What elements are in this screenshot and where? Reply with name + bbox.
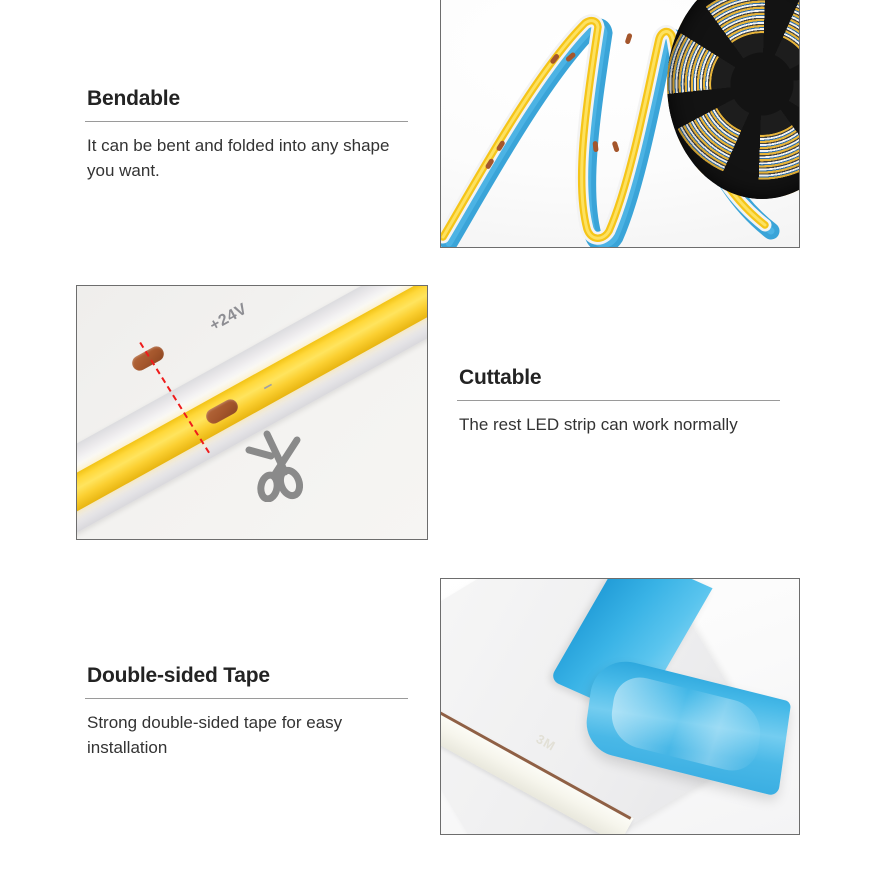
scissors-icon <box>245 426 319 502</box>
feature-description-tape: Strong double-sided tape for easy instal… <box>87 710 417 760</box>
title-divider-cuttable <box>457 400 780 401</box>
feature-block-bendable: Bendable It can be bent and folded into … <box>85 86 417 183</box>
title-divider-bendable <box>85 121 408 122</box>
feature-title-bendable: Bendable <box>87 86 417 112</box>
photo-bendable-strip <box>440 0 800 248</box>
title-divider-tape <box>85 698 408 699</box>
feature-block-cuttable: Cuttable The rest LED strip can work nor… <box>457 365 780 437</box>
photo-cuttable-strip: +24V – <box>76 285 428 540</box>
feature-description-cuttable: The rest LED strip can work normally <box>459 412 780 437</box>
feature-title-cuttable: Cuttable <box>459 365 780 391</box>
feature-description-bendable: It can be bent and folded into any shape… <box>87 133 417 183</box>
feature-title-tape: Double-sided Tape <box>87 663 417 689</box>
feature-block-tape: Double-sided Tape Strong double-sided ta… <box>85 663 417 760</box>
photo-double-sided-tape: 3M <box>440 578 800 835</box>
feature-page: Bendable It can be bent and folded into … <box>0 0 875 875</box>
